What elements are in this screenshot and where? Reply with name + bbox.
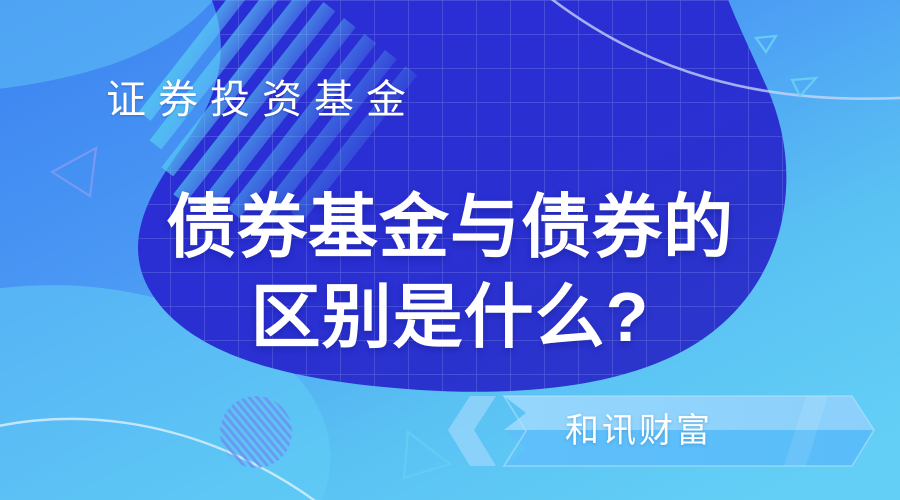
- poster-canvas: 证券投资基金 债券基金与债券的 区别是什么? 和讯财富: [0, 0, 900, 500]
- page-title: 债券基金与债券的 区别是什么?: [0, 182, 900, 362]
- brand-label: 和讯财富: [565, 404, 765, 458]
- headline-line-2: 区别是什么?: [0, 272, 900, 362]
- kicker-text: 证券投资基金: [106, 76, 418, 124]
- headline-line-1: 债券基金与债券的: [0, 182, 900, 272]
- text-layer: 证券投资基金 债券基金与债券的 区别是什么? 和讯财富: [0, 0, 900, 500]
